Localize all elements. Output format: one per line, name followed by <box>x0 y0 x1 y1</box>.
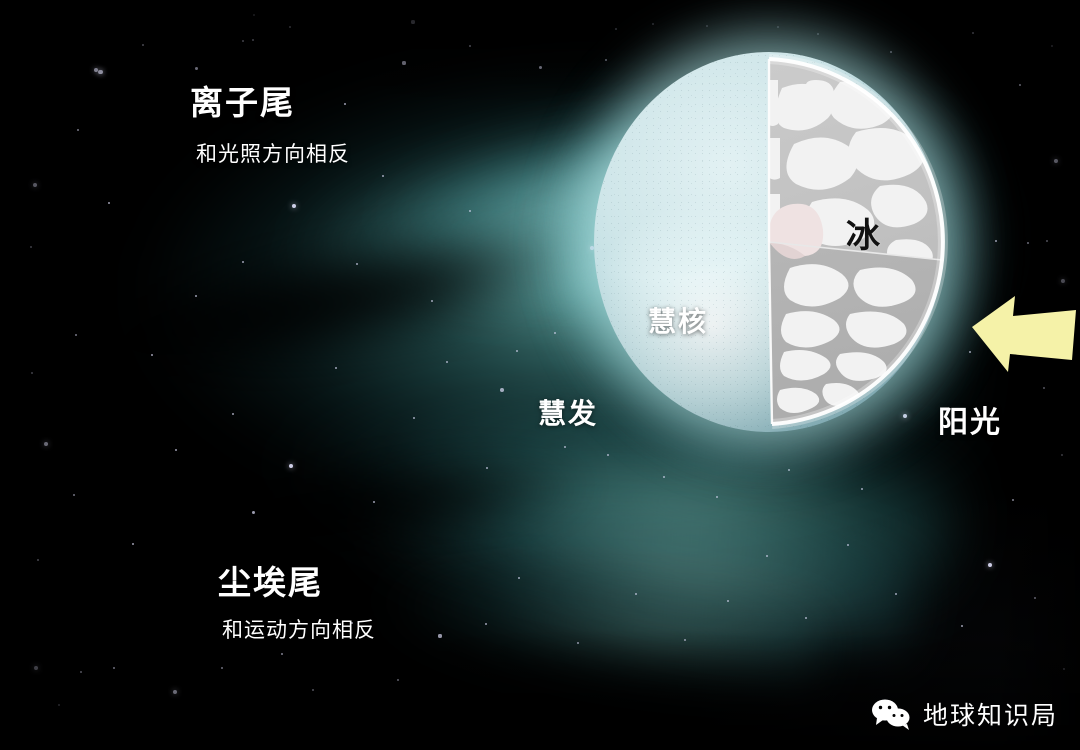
ion-tail-subtitle: 和光照方向相反 <box>196 138 350 168</box>
ice-label: 冰 <box>846 208 881 257</box>
wechat-icon <box>871 698 913 730</box>
comet-nucleus-graphic: 冰 <box>594 52 944 432</box>
ion-tail-title: 离子尾 <box>190 76 295 124</box>
nucleus-label: 慧核 <box>648 300 708 340</box>
dust-tail-subtitle: 和运动方向相反 <box>222 614 376 644</box>
nucleus-cutaway-wedge <box>594 52 944 432</box>
coma-label: 慧发 <box>538 392 598 432</box>
sunlight-arrow-icon <box>968 294 1080 372</box>
watermark: 地球知识局 <box>871 696 1058 732</box>
sunlight-label: 阳光 <box>938 397 1002 441</box>
dust-tail-title: 尘埃尾 <box>218 556 323 604</box>
comet-diagram-canvas: 冰 离子尾 和光照方向相反 尘埃尾 和运动方向相反 慧核 慧发 阳光 地球知识局 <box>0 0 1080 750</box>
watermark-text: 地球知识局 <box>923 696 1058 732</box>
